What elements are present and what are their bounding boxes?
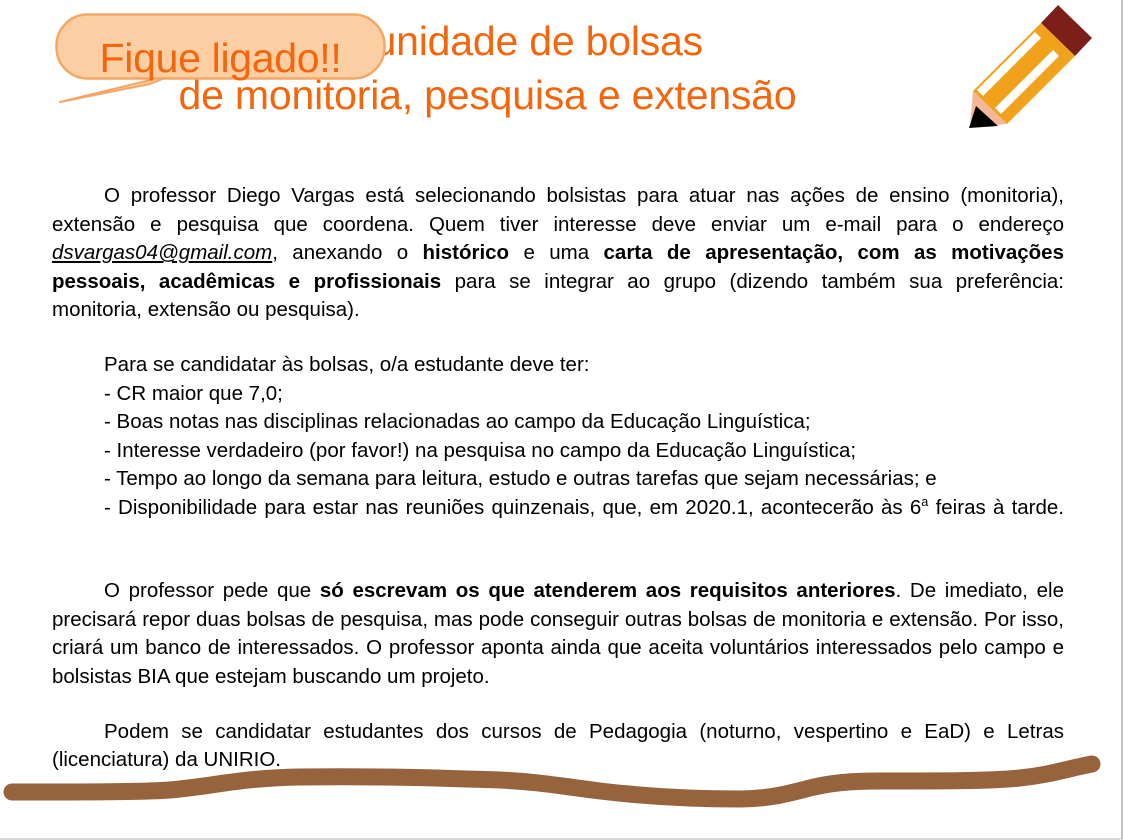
requirement-item-last: - Disponibilidade para estar nas reuniõe… <box>52 494 1064 551</box>
slide-title-area: Oportunidade de bolsas de monitoria, pes… <box>0 0 1123 140</box>
brown-wavy-line <box>0 752 1110 822</box>
paragraph-intro: O professor Diego Vargas está selecionan… <box>52 182 1064 325</box>
requirement-last-post: feiras à tarde. <box>928 496 1064 519</box>
req-segment-1: O professor pede que <box>104 579 320 602</box>
intro-segment-1: O professor Diego Vargas está selecionan… <box>52 184 1064 236</box>
callout-bubble[interactable]: Fique ligado!! <box>55 12 390 112</box>
contact-email[interactable]: dsvargas04@gmail.com <box>52 241 272 264</box>
paragraph-requisitos: O professor pede que só escrevam os que … <box>52 577 1064 691</box>
intro-bold-historico: histórico <box>423 241 510 264</box>
intro-segment-3: e uma <box>509 241 603 264</box>
requirement-item: - Interesse verdadeiro (por favor!) na p… <box>52 437 1064 466</box>
requirements-lead: Para se candidatar às bolsas, o/a estuda… <box>52 351 1064 380</box>
slide-canvas: Oportunidade de bolsas de monitoria, pes… <box>0 0 1123 840</box>
req-bold-escrevam: só escrevam os que atenderem aos requisi… <box>320 579 896 602</box>
requirement-item: - Boas notas nas disciplinas relacionada… <box>52 408 1064 437</box>
pencil-icon <box>965 2 1095 130</box>
slide-body: O professor Diego Vargas está selecionan… <box>52 182 1064 775</box>
requirement-last-pre: - Disponibilidade para estar nas reuniõe… <box>104 496 921 519</box>
requirements-block: Para se candidatar às bolsas, o/a estuda… <box>52 351 1064 551</box>
requirement-item: - CR maior que 7,0; <box>52 380 1064 409</box>
intro-segment-2: , anexando o <box>272 241 422 264</box>
callout-label: Fique ligado!! <box>55 26 386 90</box>
requirement-item: - Tempo ao longo da semana para leitura,… <box>52 465 1064 494</box>
